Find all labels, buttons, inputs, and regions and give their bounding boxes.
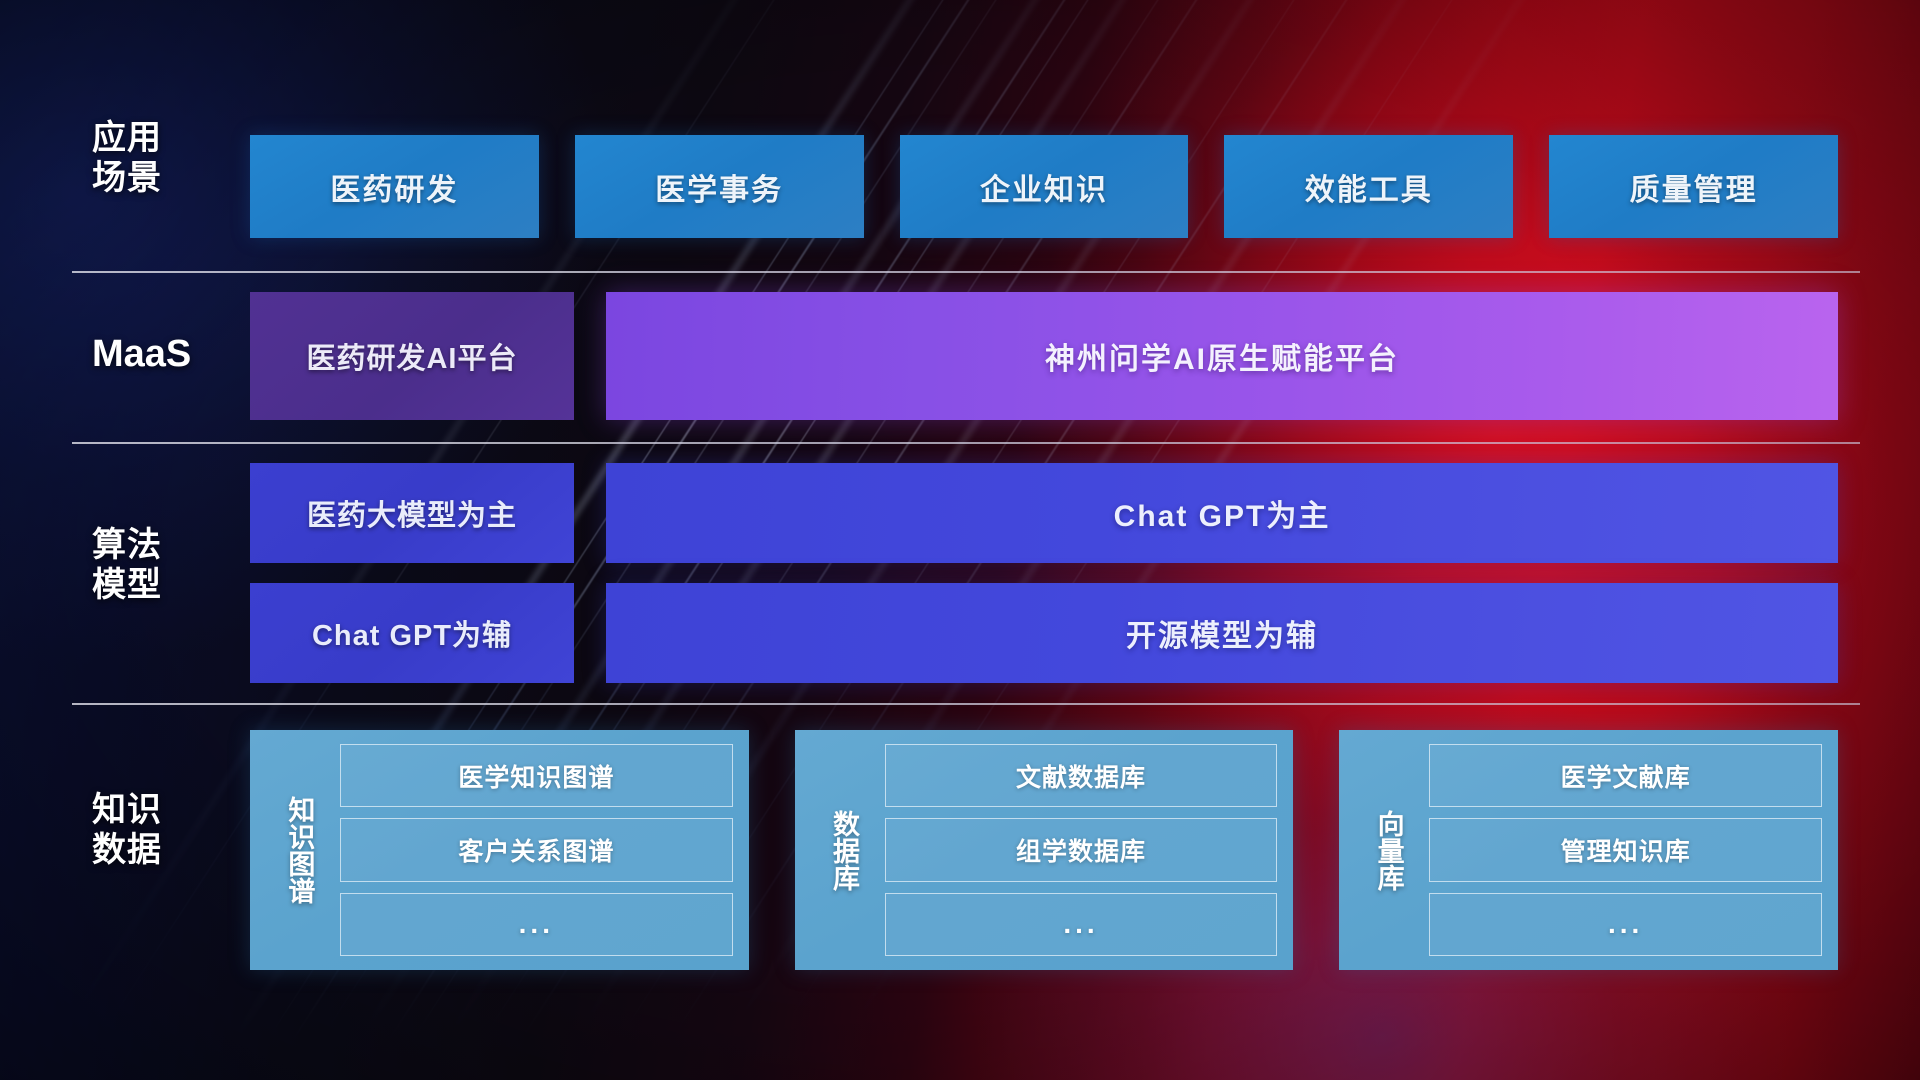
row-label-line-2: 场景 bbox=[92, 158, 242, 198]
algorithm-card-chatgpt-secondary[interactable]: Chat GPT为辅 bbox=[250, 583, 574, 683]
row-label-line-1: 算法 bbox=[92, 525, 242, 565]
row-label-line-2: 模型 bbox=[92, 565, 242, 605]
algorithm-line-primary: 医药大模型为主 Chat GPT为主 bbox=[250, 463, 1838, 563]
knowledge-group-knowledge-graph: 知识图谱 医学知识图谱 客户关系图谱 ... bbox=[250, 730, 749, 970]
algorithm-model-row: 医药大模型为主 Chat GPT为主 Chat GPT为辅 开源模型为辅 bbox=[250, 463, 1838, 683]
app-card-efficiency-tools[interactable]: 效能工具 bbox=[1224, 135, 1513, 238]
knowledge-group-title: 数据库 bbox=[813, 744, 875, 956]
knowledge-item-omics-database[interactable]: 组学数据库 bbox=[885, 818, 1278, 881]
knowledge-item-medical-literature-store[interactable]: 医学文献库 bbox=[1429, 744, 1822, 807]
application-scenario-row: 医药研发 医学事务 企业知识 效能工具 质量管理 bbox=[250, 135, 1838, 238]
knowledge-item-customer-relation-graph[interactable]: 客户关系图谱 bbox=[340, 818, 733, 881]
divider-applications-maas bbox=[72, 271, 1860, 273]
knowledge-group-title: 向量库 bbox=[1357, 744, 1419, 956]
row-label-application-scenarios: 应用 场景 bbox=[92, 118, 242, 198]
divider-maas-algorithm bbox=[72, 442, 1860, 444]
app-card-medicine-rd[interactable]: 医药研发 bbox=[250, 135, 539, 238]
knowledge-group-database: 数据库 文献数据库 组学数据库 ... bbox=[795, 730, 1294, 970]
knowledge-data-row: 知识图谱 医学知识图谱 客户关系图谱 ... 数据库 文献数据库 组学数据库 .… bbox=[250, 730, 1838, 970]
row-label-line-2: 数据 bbox=[92, 830, 242, 870]
algorithm-line-secondary: Chat GPT为辅 开源模型为辅 bbox=[250, 583, 1838, 683]
row-label-algorithm-models: 算法 模型 bbox=[92, 525, 242, 605]
app-card-quality-management[interactable]: 质量管理 bbox=[1549, 135, 1838, 238]
architecture-diagram: 应用 场景 医药研发 医学事务 企业知识 效能工具 质量管理 MaaS 医药研发… bbox=[0, 0, 1920, 1080]
knowledge-group-items: 医学文献库 管理知识库 ... bbox=[1419, 744, 1822, 956]
algorithm-card-opensource-secondary[interactable]: 开源模型为辅 bbox=[606, 583, 1838, 683]
knowledge-item-literature-database[interactable]: 文献数据库 bbox=[885, 744, 1278, 807]
knowledge-group-vector-store: 向量库 医学文献库 管理知识库 ... bbox=[1339, 730, 1838, 970]
app-card-enterprise-knowledge[interactable]: 企业知识 bbox=[900, 135, 1189, 238]
row-label-knowledge-data: 知识 数据 bbox=[92, 790, 242, 870]
knowledge-item-medical-knowledge-graph[interactable]: 医学知识图谱 bbox=[340, 744, 733, 807]
maas-row: 医药研发AI平台 神州问学AI原生赋能平台 bbox=[250, 292, 1838, 420]
algorithm-card-chatgpt-primary[interactable]: Chat GPT为主 bbox=[606, 463, 1838, 563]
row-label-maas: MaaS bbox=[92, 332, 242, 377]
knowledge-item-more[interactable]: ... bbox=[1429, 893, 1822, 956]
maas-card-medicine-rd-ai-platform[interactable]: 医药研发AI平台 bbox=[250, 292, 574, 420]
row-label-line-1: 应用 bbox=[92, 118, 242, 158]
knowledge-item-more[interactable]: ... bbox=[885, 893, 1278, 956]
app-card-medical-affairs[interactable]: 医学事务 bbox=[575, 135, 864, 238]
maas-card-shenzhou-wenxue-platform[interactable]: 神州问学AI原生赋能平台 bbox=[606, 292, 1838, 420]
row-label-line-1: 知识 bbox=[92, 790, 242, 830]
knowledge-item-more[interactable]: ... bbox=[340, 893, 733, 956]
knowledge-item-management-knowledge-store[interactable]: 管理知识库 bbox=[1429, 818, 1822, 881]
knowledge-group-items: 医学知识图谱 客户关系图谱 ... bbox=[330, 744, 733, 956]
divider-algorithm-knowledge bbox=[72, 703, 1860, 705]
algorithm-card-medicine-large-model-primary[interactable]: 医药大模型为主 bbox=[250, 463, 574, 563]
knowledge-group-items: 文献数据库 组学数据库 ... bbox=[875, 744, 1278, 956]
knowledge-group-title: 知识图谱 bbox=[268, 744, 330, 956]
